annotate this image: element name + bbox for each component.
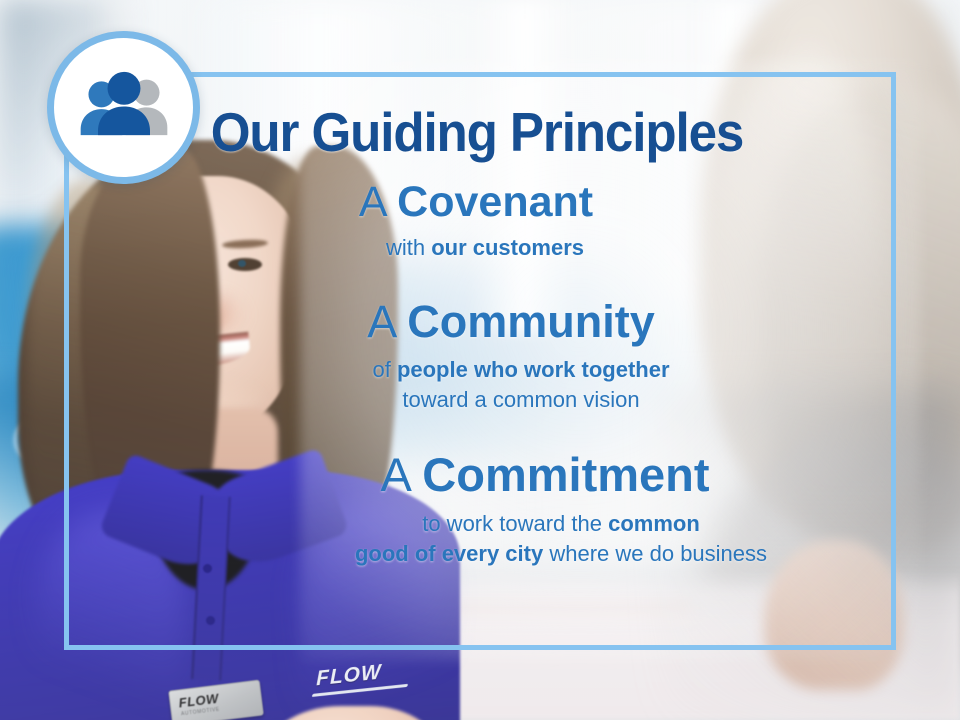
principle-headline: A Covenant — [90, 179, 862, 225]
subtext-bold-2: good of every city — [355, 541, 543, 566]
principle-article: A — [359, 178, 397, 226]
principle-headline: A Commitment — [228, 450, 862, 501]
copy-block: Our Guiding Principles A Covenant with o… — [64, 72, 896, 650]
subtext-plain-2: toward a common vision — [402, 387, 639, 412]
subtext-plain: with — [386, 235, 431, 260]
people-badge — [47, 31, 200, 184]
principle-subtext: with our customers — [108, 233, 862, 263]
principle-subtext: to work toward the common good of every … — [260, 509, 862, 568]
page-title: Our Guiding Principles — [119, 104, 835, 161]
principle-community: A Community of people who work together … — [160, 298, 862, 414]
principle-headline: A Community — [160, 298, 862, 347]
subtext-bold: our customers — [431, 235, 584, 260]
guiding-principles-banner: FLOW FLOW AUTOMOTIVE Our Guiding Princip… — [0, 0, 960, 720]
subtext-plain-3: where we do business — [543, 541, 767, 566]
subtext-plain: of — [372, 357, 396, 382]
subtext-bold: people who work together — [397, 357, 670, 382]
principle-subtext: of people who work together toward a com… — [180, 355, 862, 414]
principle-keyword: Covenant — [397, 178, 593, 226]
subtext-bold: common — [608, 511, 700, 536]
principle-commitment: A Commitment to work toward the common g… — [228, 450, 862, 568]
people-group-icon — [72, 58, 176, 162]
principle-covenant: A Covenant with our customers — [90, 179, 862, 262]
principle-article: A — [380, 448, 422, 501]
principle-article: A — [367, 296, 407, 347]
principle-keyword: Commitment — [422, 448, 709, 501]
subtext-plain: to work toward the — [422, 511, 608, 536]
principle-keyword: Community — [407, 296, 655, 347]
